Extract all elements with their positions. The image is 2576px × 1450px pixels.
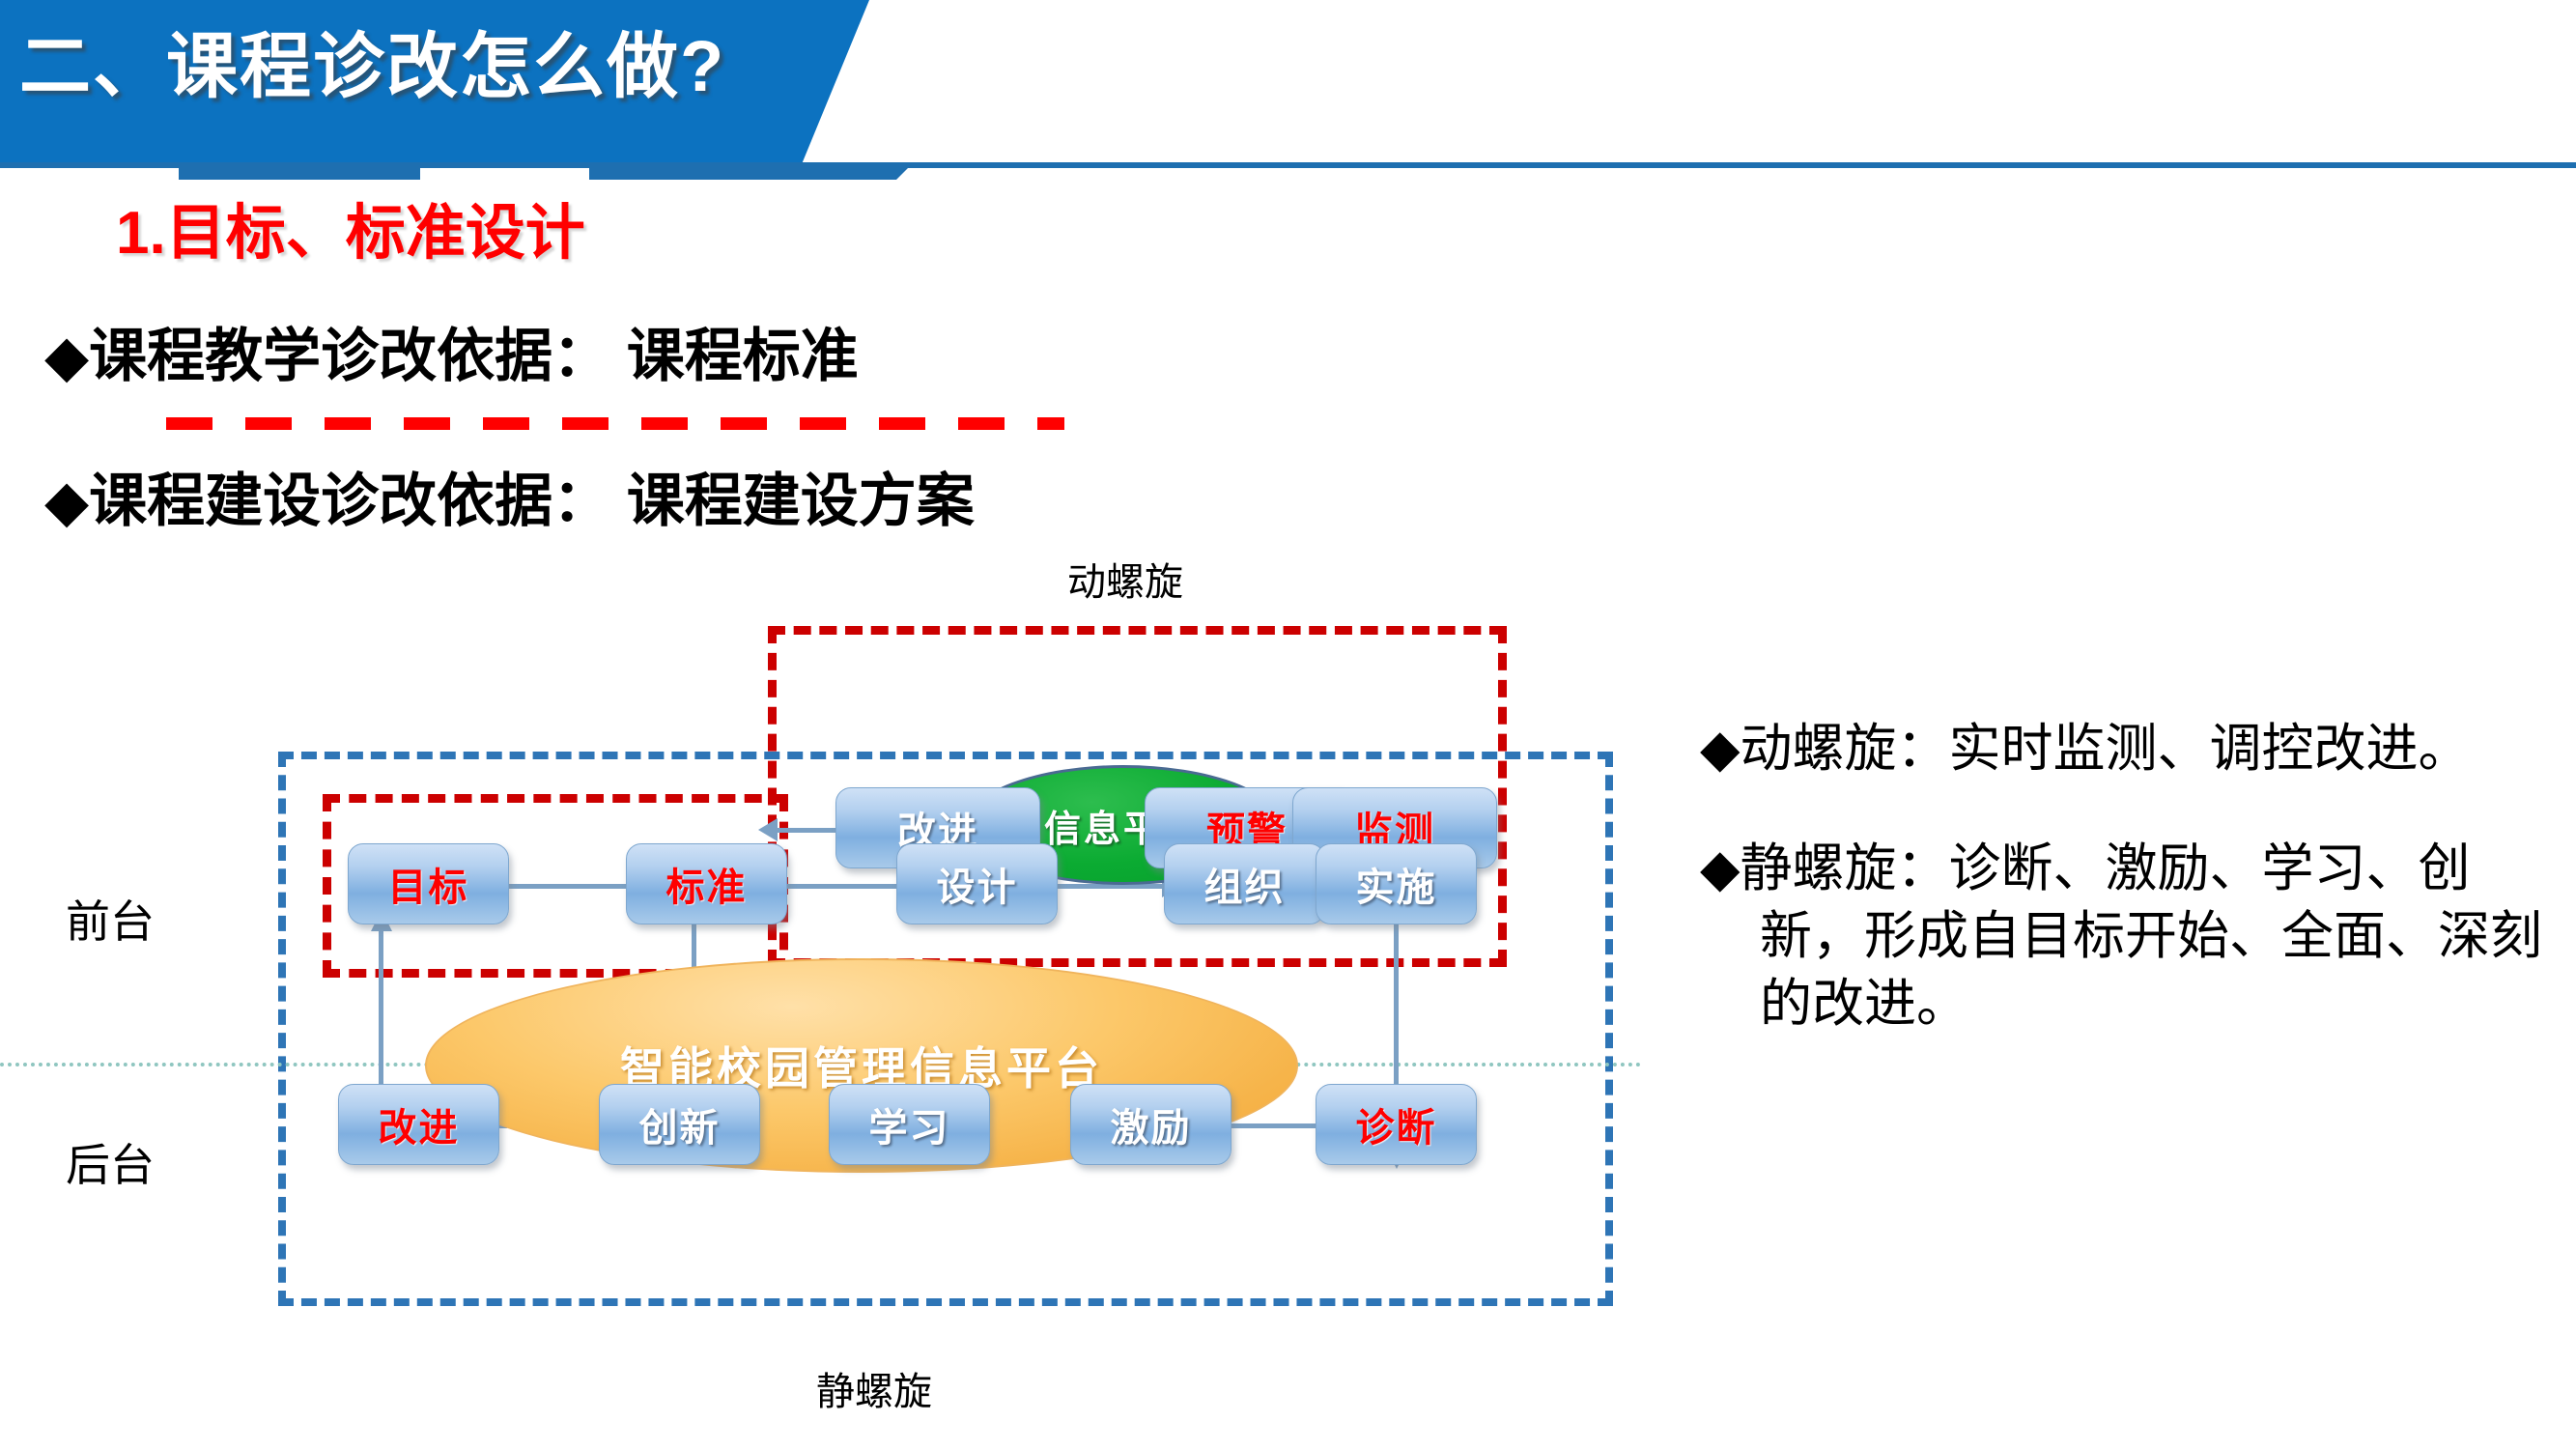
node-label: 创新 — [639, 1096, 721, 1152]
node-bot-xuexi[interactable]: 学习 — [829, 1084, 990, 1165]
node-mid-shishi[interactable]: 实施 — [1316, 843, 1477, 924]
spiral-process-diagram: 动螺旋 前台 后台 智能校园管理信息平台 信息平台 — [0, 551, 1642, 1450]
node-bot-chuangxin[interactable]: 创新 — [599, 1084, 760, 1165]
node-label: 诊断 — [1356, 1096, 1437, 1152]
node-mid-sheji[interactable]: 设计 — [896, 843, 1058, 924]
node-mid-mubiao[interactable]: 目标 — [348, 843, 509, 924]
header-accent-bar-right — [589, 168, 908, 180]
label-back-stage: 后台 — [66, 1130, 155, 1194]
node-label: 实施 — [1356, 856, 1437, 912]
node-mid-zuzhi[interactable]: 组织 — [1164, 843, 1325, 924]
node-label: 标准 — [666, 856, 748, 912]
node-bot-jili[interactable]: 激励 — [1070, 1084, 1231, 1165]
section-number-heading: 1.目标、标准设计 — [116, 184, 585, 270]
diagram-caption-static-spiral: 静螺旋 — [816, 1360, 932, 1416]
node-label: 改进 — [379, 1096, 460, 1152]
node-label: 目标 — [388, 856, 469, 912]
node-label: 组织 — [1204, 856, 1286, 912]
node-mid-biaozhun[interactable]: 标准 — [626, 843, 787, 924]
bullet-course-teaching-basis: ◆课程教学诊改依据： 课程标准 — [44, 309, 859, 393]
arrowhead-left-gaijin — [758, 818, 778, 841]
bullet-course-construction-basis: ◆课程建设诊改依据： 课程建设方案 — [44, 454, 975, 538]
page-title: 二、课程诊改怎么做? — [19, 14, 792, 120]
explanation-item-static-spiral: ◆静螺旋：诊断、激励、学习、创新，形成自目标开始、全面、深刻的改进。 — [1700, 835, 2550, 1038]
node-label: 设计 — [937, 856, 1018, 912]
header-accent-bar-left — [179, 168, 420, 180]
node-label: 激励 — [1111, 1096, 1192, 1152]
connector-mubiao-biaozhun — [502, 884, 628, 889]
explanation-item-dynamic-spiral: ◆动螺旋：实时监测、调控改进。 — [1700, 715, 2550, 782]
label-front-stage: 前台 — [66, 887, 155, 951]
node-bot-zhenduan[interactable]: 诊断 — [1316, 1084, 1477, 1165]
explanation-list: ◆动螺旋：实时监测、调控改进。 ◆静螺旋：诊断、激励、学习、创新，形成自目标开始… — [1700, 715, 2550, 1090]
node-label: 学习 — [869, 1096, 950, 1152]
diagram-caption-dynamic-spiral: 动螺旋 — [1067, 551, 1183, 607]
node-bot-gaijin[interactable]: 改进 — [338, 1084, 499, 1165]
connector-biaozhun-sheji — [782, 884, 898, 889]
red-dashed-underline — [166, 417, 1064, 430]
